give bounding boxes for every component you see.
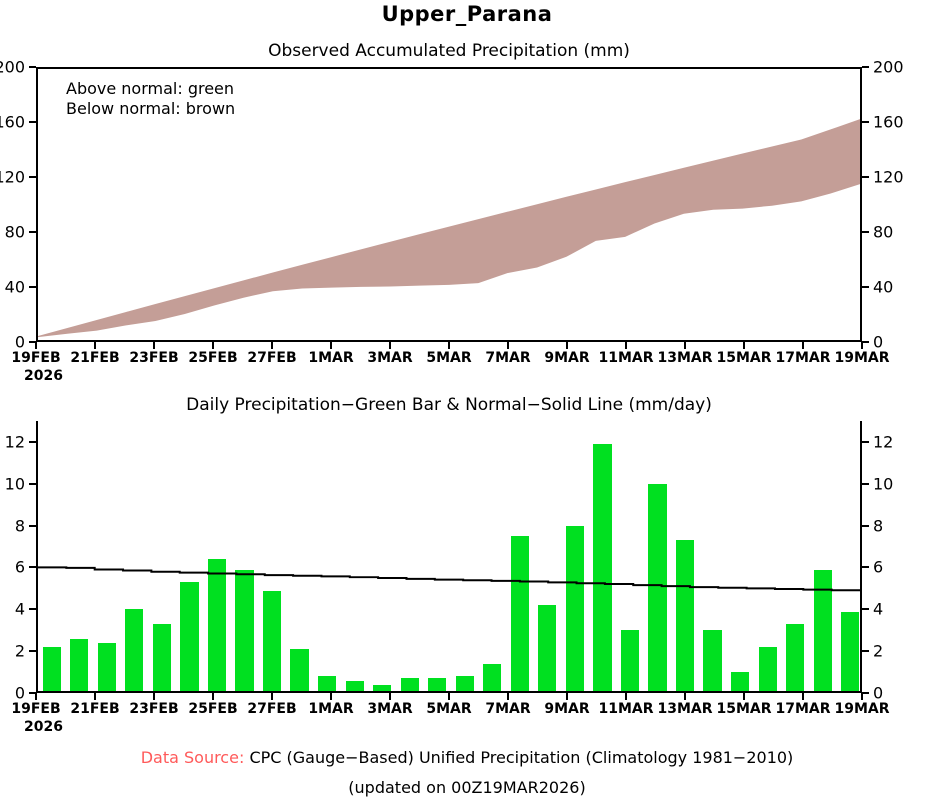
data-source-text: CPC (Gauge−Based) Unified Precipitation … <box>249 748 793 767</box>
x-axis-label: 19MAR <box>834 350 889 366</box>
x-axis-label: 5MAR <box>426 701 471 717</box>
daily-plot-area <box>36 421 862 693</box>
y-axis-label-left: 40 <box>5 278 25 297</box>
x-axis-year-label: 2026 <box>24 368 63 384</box>
y-axis-label-left: 10 <box>5 474 25 493</box>
accumulated-legend: Above normal: green Below normal: brown <box>66 79 235 119</box>
x-tick <box>625 342 627 349</box>
y-axis-left-spine <box>36 421 38 693</box>
x-axis-label: 19FEB <box>11 350 60 366</box>
y-axis-label-right: 200 <box>873 58 904 77</box>
x-tick <box>212 693 214 700</box>
x-axis-label: 27FEB <box>247 350 296 366</box>
x-tick <box>684 693 686 700</box>
footer-updated-line: (updated on 00Z19MAR2026) <box>0 778 934 797</box>
x-tick <box>35 342 37 349</box>
y-tick-right <box>862 286 869 288</box>
y-tick-right <box>862 608 869 610</box>
y-tick-left <box>29 286 36 288</box>
y-tick-right <box>862 692 869 694</box>
y-tick-left <box>29 66 36 68</box>
y-axis-label-right: 6 <box>873 558 883 577</box>
y-tick-right <box>862 176 869 178</box>
y-axis-label-right: 4 <box>873 600 883 619</box>
x-axis-year-label: 2026 <box>24 719 63 735</box>
legend-above-normal: Above normal: green <box>66 79 235 99</box>
x-tick <box>94 342 96 349</box>
y-axis-label-right: 80 <box>873 223 893 242</box>
x-tick <box>271 342 273 349</box>
x-axis-label: 9MAR <box>544 350 589 366</box>
x-tick <box>448 693 450 700</box>
x-axis-label: 15MAR <box>716 701 771 717</box>
y-axis-label-right: 0 <box>873 684 883 703</box>
x-tick <box>271 693 273 700</box>
x-tick <box>330 693 332 700</box>
y-axis-label-left: 0 <box>15 684 25 703</box>
y-tick-right <box>862 525 869 527</box>
x-axis-label: 19MAR <box>834 701 889 717</box>
y-tick-right <box>862 341 869 343</box>
y-axis-label-left: 120 <box>0 168 25 187</box>
x-tick <box>153 342 155 349</box>
x-axis-label: 1MAR <box>308 350 353 366</box>
y-tick-left <box>29 441 36 443</box>
x-tick <box>566 342 568 349</box>
y-tick-left <box>29 650 36 652</box>
y-tick-right <box>862 231 869 233</box>
x-axis-label: 23FEB <box>129 350 178 366</box>
x-axis-label: 21FEB <box>70 350 119 366</box>
x-axis-label: 11MAR <box>598 350 653 366</box>
y-axis-label-right: 40 <box>873 278 893 297</box>
x-tick <box>566 693 568 700</box>
y-axis-label-left: 0 <box>15 333 25 352</box>
y-tick-right <box>862 121 869 123</box>
y-tick-right <box>862 650 869 652</box>
x-axis-label: 13MAR <box>657 350 712 366</box>
y-axis-label-left: 12 <box>5 432 25 451</box>
x-tick <box>153 693 155 700</box>
y-tick-right <box>862 566 869 568</box>
x-axis-label: 1MAR <box>308 701 353 717</box>
y-tick-left <box>29 566 36 568</box>
x-axis-label: 3MAR <box>367 701 412 717</box>
x-axis-label: 13MAR <box>657 701 712 717</box>
x-tick <box>389 693 391 700</box>
y-tick-left <box>29 176 36 178</box>
y-axis-label-left: 4 <box>15 600 25 619</box>
x-axis-label: 9MAR <box>544 701 589 717</box>
y-tick-left <box>29 608 36 610</box>
page-title: Upper_Parana <box>0 0 934 26</box>
x-tick <box>802 693 804 700</box>
x-axis-label: 7MAR <box>485 350 530 366</box>
y-axis-label-right: 12 <box>873 432 893 451</box>
y-axis-label-right: 0 <box>873 333 883 352</box>
x-tick <box>212 342 214 349</box>
y-axis-label-left: 80 <box>5 223 25 242</box>
y-tick-left <box>29 231 36 233</box>
x-tick <box>330 342 332 349</box>
x-axis-label: 23FEB <box>129 701 178 717</box>
y-axis-label-right: 160 <box>873 113 904 132</box>
x-axis-label: 3MAR <box>367 350 412 366</box>
daily-precipitation-chart: Daily Precipitation−Green Bar & Normal−S… <box>36 421 862 693</box>
x-axis-label: 5MAR <box>426 350 471 366</box>
x-axis-label: 27FEB <box>247 701 296 717</box>
x-axis-label: 11MAR <box>598 701 653 717</box>
x-axis-label: 7MAR <box>485 701 530 717</box>
x-axis-label: 25FEB <box>188 701 237 717</box>
x-axis-label: 19FEB <box>11 701 60 717</box>
accumulated-chart-title: Observed Accumulated Precipitation (mm) <box>36 41 862 61</box>
x-axis-label: 25FEB <box>188 350 237 366</box>
x-tick <box>448 342 450 349</box>
y-tick-right <box>862 441 869 443</box>
y-tick-right <box>862 66 869 68</box>
x-tick <box>802 342 804 349</box>
x-axis-label: 15MAR <box>716 350 771 366</box>
x-axis-label: 21FEB <box>70 701 119 717</box>
x-axis-label: 17MAR <box>775 350 830 366</box>
y-axis-label-left: 200 <box>0 58 25 77</box>
x-tick <box>861 693 863 700</box>
y-tick-left <box>29 525 36 527</box>
y-axis-label-left: 160 <box>0 113 25 132</box>
x-tick <box>743 693 745 700</box>
x-tick <box>743 342 745 349</box>
y-axis-label-right: 120 <box>873 168 904 187</box>
footer-source-line: Data Source: CPC (Gauge−Based) Unified P… <box>0 748 934 767</box>
x-tick <box>389 342 391 349</box>
daily-chart-title: Daily Precipitation−Green Bar & Normal−S… <box>36 395 862 415</box>
x-tick <box>507 693 509 700</box>
x-tick <box>507 342 509 349</box>
y-axis-label-right: 8 <box>873 516 883 535</box>
y-tick-left <box>29 121 36 123</box>
legend-below-normal: Below normal: brown <box>66 99 235 119</box>
x-tick <box>684 342 686 349</box>
y-axis-right-spine <box>860 421 862 693</box>
accumulated-precipitation-chart: Observed Accumulated Precipitation (mm) … <box>36 67 862 342</box>
x-tick <box>35 693 37 700</box>
y-axis-label-left: 8 <box>15 516 25 535</box>
y-tick-left <box>29 483 36 485</box>
x-tick <box>625 693 627 700</box>
x-axis-label: 17MAR <box>775 701 830 717</box>
y-tick-right <box>862 483 869 485</box>
y-axis-label-left: 6 <box>15 558 25 577</box>
x-tick <box>94 693 96 700</box>
y-axis-label-right: 2 <box>873 642 883 661</box>
data-source-label: Data Source: <box>141 748 245 767</box>
y-axis-label-left: 2 <box>15 642 25 661</box>
y-axis-label-right: 10 <box>873 474 893 493</box>
x-tick <box>861 342 863 349</box>
normal-line <box>38 421 860 691</box>
